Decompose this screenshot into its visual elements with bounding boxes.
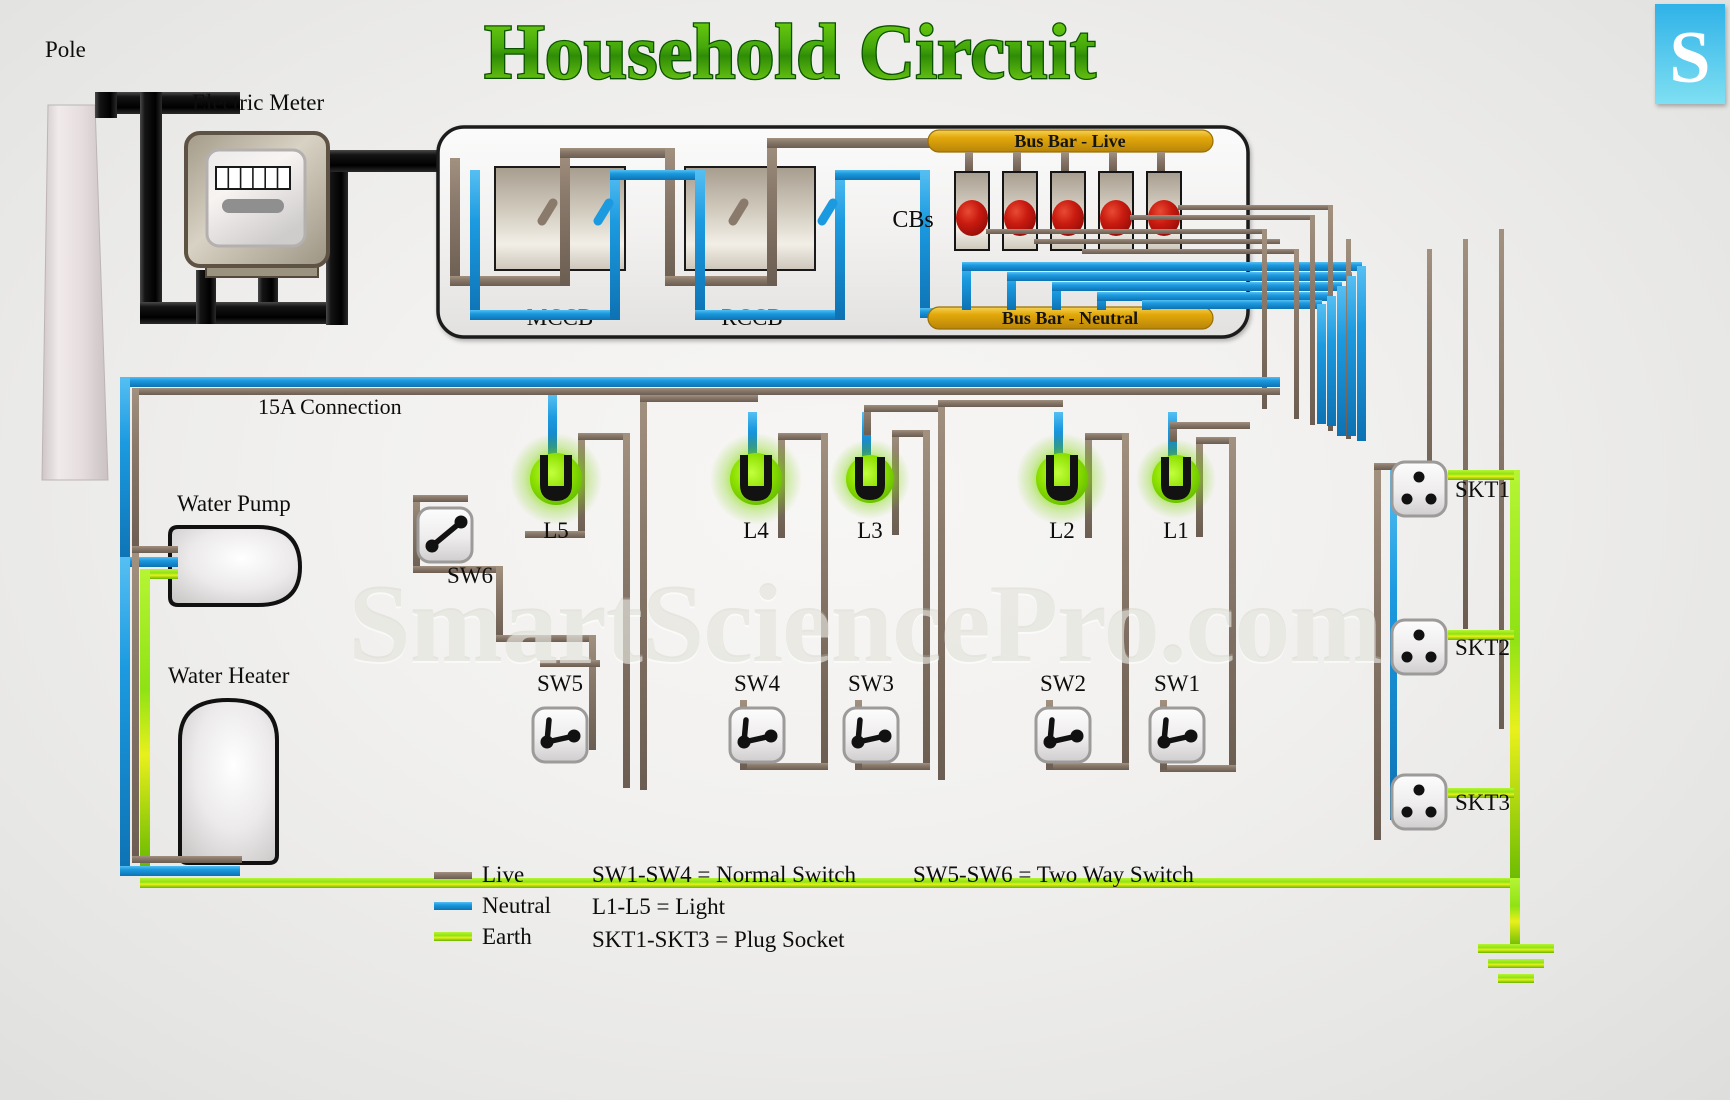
lamp-label: L3 bbox=[857, 518, 883, 543]
busbar-neutral-label: Bus Bar - Neutral bbox=[1002, 308, 1138, 328]
busbar-live: Bus Bar - Live bbox=[928, 130, 1213, 152]
legend: Live Neutral Earth SW1-SW4 = Normal Swit… bbox=[434, 862, 1194, 952]
brand-logo: S bbox=[1655, 4, 1725, 104]
electric-meter: Electric Meter bbox=[186, 90, 328, 277]
legend-label: Live bbox=[482, 862, 524, 887]
lamp-label: L1 bbox=[1163, 518, 1189, 543]
busbar-neutral: Bus Bar - Neutral bbox=[928, 307, 1213, 329]
socket-SKT3[interactable]: SKT3 bbox=[1392, 775, 1510, 829]
switch-label: SW2 bbox=[1040, 671, 1086, 696]
logo-letter: S bbox=[1669, 17, 1710, 99]
socket-label: SKT3 bbox=[1455, 790, 1510, 815]
distribution-board: MCCB RCCB bbox=[438, 127, 1362, 337]
legend-label: Earth bbox=[482, 924, 532, 949]
lamp-label: L4 bbox=[743, 518, 769, 543]
switch-SW3[interactable]: SW3 bbox=[844, 671, 898, 762]
lamp-label: L5 bbox=[543, 518, 569, 543]
page-title: Household Circuit bbox=[484, 8, 1096, 95]
circuit-canvas: Household Circuit S Pole Electric Meter bbox=[0, 0, 1730, 1100]
page-title-text: Household Circuit bbox=[484, 8, 1096, 95]
lamp-label: L2 bbox=[1049, 518, 1075, 543]
legend-note: SW5-SW6 = Two Way Switch bbox=[913, 862, 1194, 887]
sockets: SKT1 SKT2 SKT3 bbox=[1392, 462, 1510, 829]
lamp-L4[interactable]: L4 bbox=[710, 433, 802, 543]
switch-SW2[interactable]: SW2 bbox=[1036, 671, 1090, 762]
switch-SW5[interactable]: SW5 bbox=[533, 671, 587, 762]
lamp-L2[interactable]: L2 bbox=[1016, 433, 1108, 543]
water-heater-label: Water Heater bbox=[168, 663, 290, 688]
connection-15a-label: 15A Connection bbox=[258, 394, 402, 419]
socket-label: SKT1 bbox=[1455, 477, 1510, 502]
socket-SKT2[interactable]: SKT2 bbox=[1392, 620, 1510, 674]
lamps: L5 L4 L3 bbox=[510, 433, 1216, 543]
legend-row-neutral: Neutral bbox=[434, 893, 551, 918]
legend-note: L1-L5 = Light bbox=[592, 894, 726, 919]
switch-SW4[interactable]: SW4 bbox=[730, 671, 784, 762]
household-circuit-diagram: SmartSciencePro.com bbox=[0, 0, 1730, 1100]
pole-label: Pole bbox=[45, 37, 86, 62]
switch-label: SW1 bbox=[1154, 671, 1200, 696]
water-heater: Water Heater bbox=[120, 553, 1520, 888]
switch-SW6[interactable]: SW6 bbox=[418, 508, 493, 588]
switch-label: SW6 bbox=[447, 563, 493, 588]
socket-label: SKT2 bbox=[1455, 635, 1510, 660]
busbar-live-label: Bus Bar - Live bbox=[1014, 131, 1125, 151]
switch-label: SW5 bbox=[537, 671, 583, 696]
electric-meter-label: Electric Meter bbox=[192, 90, 325, 115]
switch-label: SW4 bbox=[734, 671, 781, 696]
switch-SW1[interactable]: SW1 bbox=[1150, 671, 1204, 762]
lamp-L1[interactable]: L1 bbox=[1136, 439, 1216, 543]
legend-label: Neutral bbox=[482, 893, 551, 918]
switch-label: SW3 bbox=[848, 671, 894, 696]
legend-row-earth: Earth bbox=[434, 924, 532, 949]
earth-ground-symbol bbox=[1478, 944, 1554, 983]
lamp-L5[interactable]: L5 bbox=[510, 433, 602, 543]
socket-wiring bbox=[1374, 463, 1520, 948]
legend-note: SKT1-SKT3 = Plug Socket bbox=[592, 927, 845, 952]
legend-note: SW1-SW4 = Normal Switch bbox=[592, 862, 857, 887]
cbs-label: CBs bbox=[892, 207, 933, 233]
water-pump-label: Water Pump bbox=[177, 491, 291, 516]
meter-digits bbox=[216, 167, 290, 189]
